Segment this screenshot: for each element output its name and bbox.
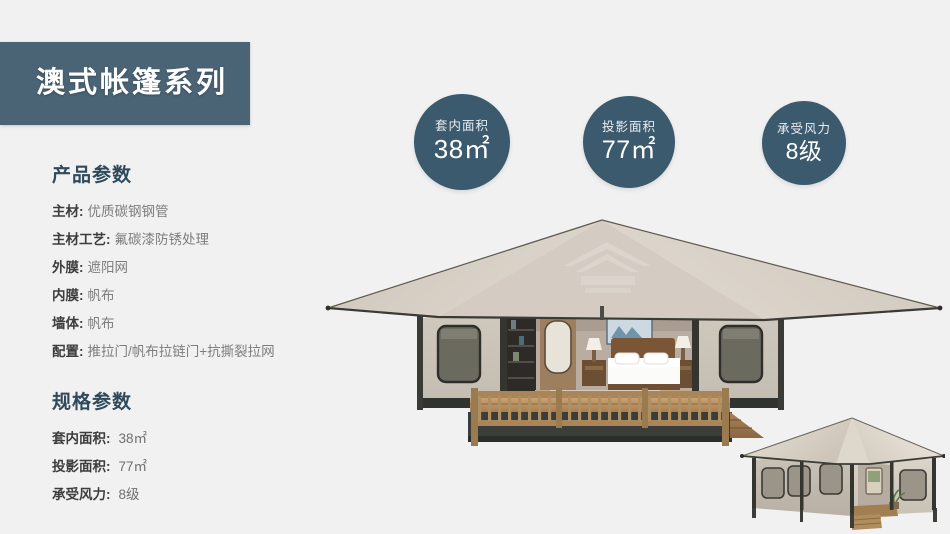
param-label: 主材: <box>52 198 84 226</box>
stat-value: 77㎡ <box>602 137 656 163</box>
specification-list: 套内面积: 38㎡ 投影面积: 77㎡ 承受风力: 8级 <box>52 425 352 509</box>
page-title: 澳式帐篷系列 <box>22 69 228 98</box>
center-pole <box>600 306 604 320</box>
stat-badge-interior-area: 套内面积 38㎡ <box>414 94 510 190</box>
product-parameter-list: 主材: 优质碳钢钢管 主材工艺: 氟碳漆防锈处理 外膜: 遮阳网 内膜: 帆布 … <box>52 198 352 366</box>
section-divider <box>52 366 352 392</box>
param-label: 配置: <box>52 338 84 366</box>
spec-label: 投影面积: <box>52 453 111 481</box>
spec-label: 套内面积: <box>52 425 111 453</box>
small-window-2 <box>788 466 810 496</box>
stat-label: 套内面积 <box>435 120 489 134</box>
spec-label: 承受风力: <box>52 481 111 509</box>
list-item: 外膜: 遮阳网 <box>52 254 352 282</box>
shelf-unit <box>506 316 536 402</box>
list-item: 墙体: 帆布 <box>52 310 352 338</box>
list-item: 套内面积: 38㎡ <box>52 425 352 453</box>
small-window-4 <box>900 470 926 500</box>
list-item: 配置: 推拉门/帆布拉链门+抗撕裂拉网 <box>52 338 352 366</box>
param-label: 内膜: <box>52 282 84 310</box>
param-value: 优质碳钢钢管 <box>88 198 169 226</box>
param-value: 帆布 <box>88 310 115 338</box>
spec-value: 38㎡ <box>119 425 148 453</box>
tent-perspective-view-svg <box>740 412 945 534</box>
slide-root: 澳式帐篷系列 产品参数 主材: 优质碳钢钢管 主材工艺: 氟碳漆防锈处理 外膜:… <box>0 0 950 534</box>
spec-value: 8级 <box>119 481 140 509</box>
small-window-3 <box>820 464 842 494</box>
small-window-1 <box>762 468 784 498</box>
secondary-tent-illustration <box>740 412 945 534</box>
left-post <box>417 316 423 410</box>
param-value: 推拉门/帆布拉链门+抗撕裂拉网 <box>88 338 275 366</box>
right-post <box>778 316 784 410</box>
param-value: 帆布 <box>88 282 115 310</box>
stat-badge-projected-area: 投影面积 77㎡ <box>583 96 675 188</box>
spec-value: 77㎡ <box>119 453 148 481</box>
param-value: 遮阳网 <box>88 254 129 282</box>
list-item: 承受风力: 8级 <box>52 481 352 509</box>
list-item: 主材: 优质碳钢钢管 <box>52 198 352 226</box>
param-label: 墙体: <box>52 310 84 338</box>
param-label: 外膜: <box>52 254 84 282</box>
stat-value: 8级 <box>786 139 823 163</box>
list-item: 内膜: 帆布 <box>52 282 352 310</box>
param-value: 氟碳漆防锈处理 <box>115 226 210 254</box>
stat-label: 投影面积 <box>602 121 656 135</box>
info-panel: 产品参数 主材: 优质碳钢钢管 主材工艺: 氟碳漆防锈处理 外膜: 遮阳网 内膜… <box>52 165 352 509</box>
title-banner: 澳式帐篷系列 <box>0 42 250 125</box>
list-item: 主材工艺: 氟碳漆防锈处理 <box>52 226 352 254</box>
product-section-heading: 产品参数 <box>52 165 352 188</box>
stat-label: 承受风力 <box>777 123 831 137</box>
stat-value: 38㎡ <box>434 136 490 163</box>
spec-section-heading: 规格参数 <box>52 392 352 415</box>
stat-badge-wind-resistance: 承受风力 8级 <box>762 101 846 185</box>
list-item: 投影面积: 77㎡ <box>52 453 352 481</box>
nightstand-left <box>582 360 606 386</box>
param-label: 主材工艺: <box>52 226 111 254</box>
pillow-right <box>644 353 668 364</box>
pillow-left <box>615 353 639 364</box>
small-steps <box>852 514 882 530</box>
